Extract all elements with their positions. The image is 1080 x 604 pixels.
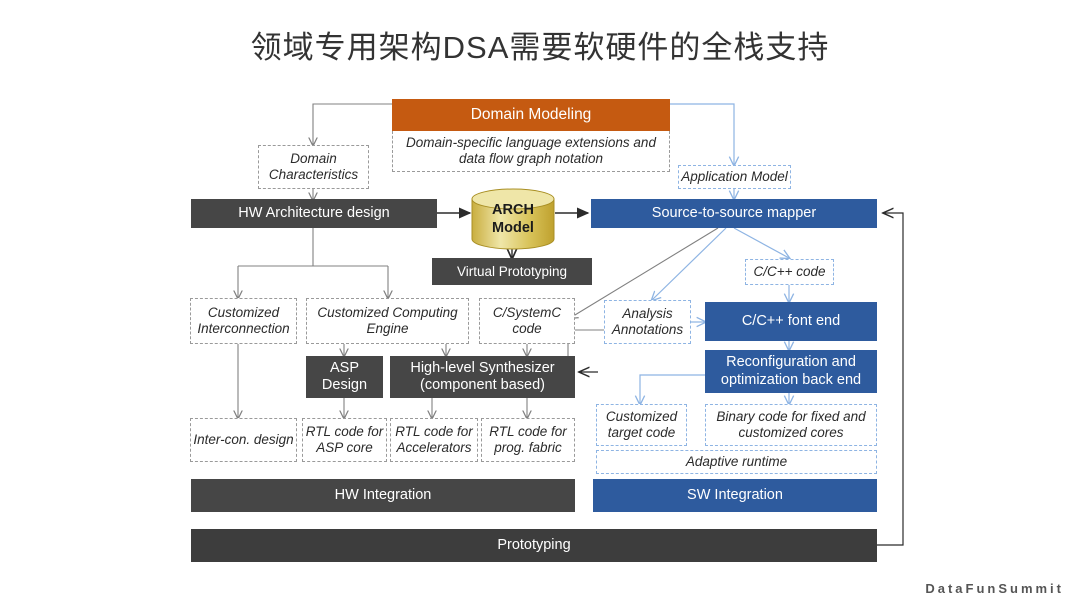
node-inter-con-design[interactable]: Inter-con. design [190, 418, 297, 462]
node-domain-modeling-subtitle: Domain-specific language extensions and … [392, 131, 670, 172]
node-analysis-annotations[interactable]: Analysis Annotations [604, 300, 691, 344]
node-asp-design[interactable]: ASP Design [306, 356, 383, 398]
node-rtl-prog-fabric[interactable]: RTL code for prog. fabric [481, 418, 575, 462]
node-cpp-font-end[interactable]: C/C++ font end [705, 302, 877, 341]
node-sw-integration[interactable]: SW Integration [593, 479, 877, 512]
node-rtl-asp-core[interactable]: RTL code for ASP core [302, 418, 387, 462]
page-title: 领域专用架构DSA需要软硬件的全栈支持 [0, 22, 1080, 67]
node-domain-characteristics[interactable]: Domain Characteristics [258, 145, 369, 189]
node-hw-architecture-design[interactable]: HW Architecture design [191, 199, 437, 228]
node-arch-model[interactable]: ARCH Model [470, 188, 556, 250]
arch-model-label: ARCH Model [470, 188, 556, 250]
watermark-logo: DataFunSummit [925, 581, 1064, 596]
node-cpp-code[interactable]: C/C++ code [745, 259, 834, 285]
node-virtual-prototyping[interactable]: Virtual Prototyping [432, 258, 592, 285]
node-rtl-accelerators[interactable]: RTL code for Accelerators [390, 418, 478, 462]
node-binary-code-cores[interactable]: Binary code for fixed and customized cor… [705, 404, 877, 446]
node-customized-computing-engine[interactable]: Customized Computing Engine [306, 298, 469, 344]
node-source-to-source-mapper[interactable]: Source-to-source mapper [591, 199, 877, 228]
node-adaptive-runtime[interactable]: Adaptive runtime [596, 450, 877, 474]
node-application-model[interactable]: Application Model [678, 165, 791, 189]
node-customized-target-code[interactable]: Customized target code [596, 404, 687, 446]
node-prototyping[interactable]: Prototyping [191, 529, 877, 562]
node-c-systemc-code[interactable]: C/SystemC code [479, 298, 575, 344]
node-reconfiguration-back-end[interactable]: Reconfiguration and optimization back en… [705, 350, 877, 393]
node-customized-interconnection[interactable]: Customized Interconnection [190, 298, 297, 344]
node-hw-integration[interactable]: HW Integration [191, 479, 575, 512]
slide-canvas: 领域专用架构DSA需要软硬件的全栈支持 [0, 0, 1080, 604]
node-high-level-synthesizer[interactable]: High-level Synthesizer (component based) [390, 356, 575, 398]
node-domain-modeling[interactable]: Domain Modeling [392, 99, 670, 131]
